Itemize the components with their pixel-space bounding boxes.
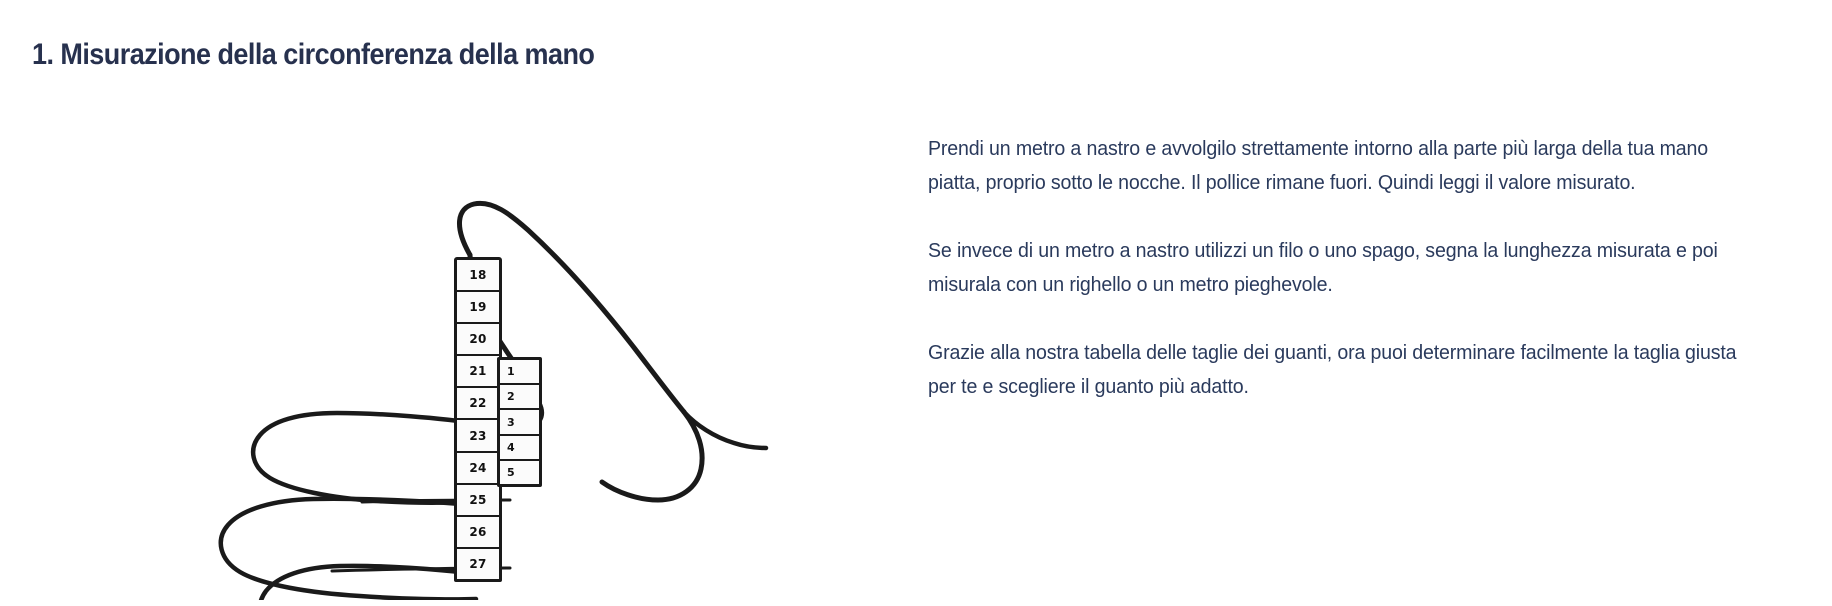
page-title: 1. Misurazione della circonferenza della… bbox=[32, 36, 594, 74]
middle-finger-outline bbox=[221, 499, 476, 600]
tape-cell: 2 bbox=[500, 385, 539, 410]
tape-cell: 3 bbox=[500, 410, 539, 435]
instruction-paragraph: Grazie alla nostra tabella delle taglie … bbox=[928, 336, 1759, 404]
tape-cell: 1 bbox=[500, 360, 539, 385]
palm-right-edge bbox=[602, 412, 702, 500]
tape-cell: 22 bbox=[457, 388, 499, 420]
page-root: 1. Misurazione della circonferenza della… bbox=[0, 0, 1832, 606]
tape-cell: 21 bbox=[457, 356, 499, 388]
instruction-paragraph: Se invece di un metro a nastro utilizzi … bbox=[928, 234, 1759, 302]
tape-cell: 5 bbox=[500, 461, 539, 484]
instruction-paragraph: Prendi un metro a nastro e avvolgilo str… bbox=[928, 132, 1759, 200]
instructions-column: Prendi un metro a nastro e avvolgilo str… bbox=[928, 132, 1798, 404]
measuring-tape-main: 18 19 20 21 22 23 24 25 26 27 bbox=[454, 257, 502, 582]
tape-cell: 19 bbox=[457, 292, 499, 324]
tape-cell: 24 bbox=[457, 453, 499, 485]
tape-cell: 4 bbox=[500, 436, 539, 461]
index-finger-outline bbox=[253, 413, 480, 503]
tape-cell: 27 bbox=[457, 549, 499, 579]
measuring-tape-overlap: 1 2 3 4 5 bbox=[497, 357, 542, 487]
tape-cell: 20 bbox=[457, 324, 499, 356]
tape-cell: 26 bbox=[457, 517, 499, 549]
tape-cell: 25 bbox=[457, 485, 499, 517]
tape-cell: 18 bbox=[457, 260, 499, 292]
tape-cell: 23 bbox=[457, 420, 499, 452]
